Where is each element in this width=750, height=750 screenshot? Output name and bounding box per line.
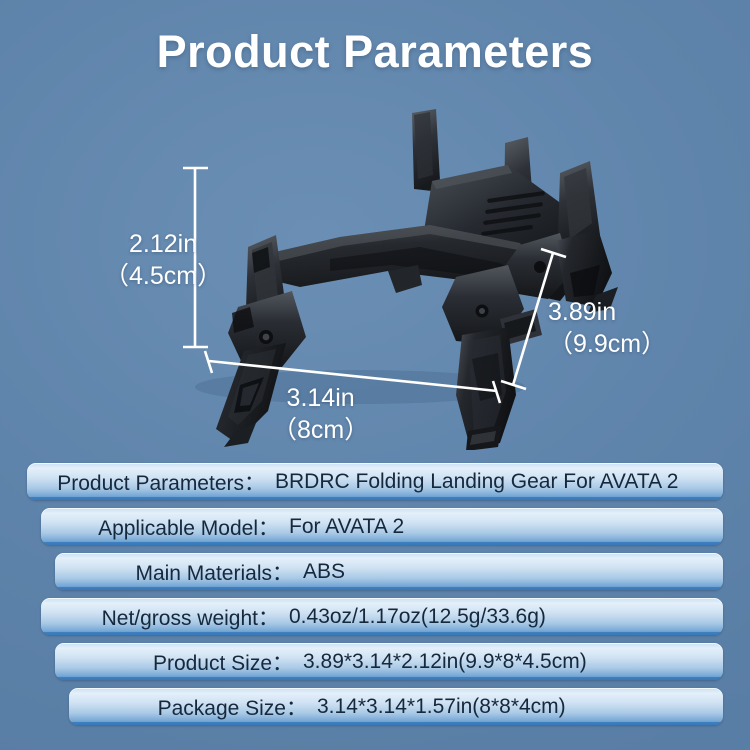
spec-label: Product Size： <box>55 647 293 677</box>
spec-row-main-materials: Main Materials： ABS <box>0 553 750 590</box>
spec-value: BRDRC Folding Landing Gear For AVATA 2 <box>275 470 678 494</box>
spec-row-net-gross-weight: Net/gross weight： 0.43oz/1.17oz(12.5g/33… <box>0 598 750 635</box>
spec-row-package-size: Package Size： 3.14*3.14*1.57in(8*8*4cm) <box>0 688 750 725</box>
spec-pill: Product Parameters： BRDRC Folding Landin… <box>27 463 723 500</box>
page-title: Product Parameters <box>0 26 750 78</box>
spec-label: Applicable Model： <box>41 512 279 542</box>
spec-pill: Package Size： 3.14*3.14*1.57in(8*8*4cm) <box>69 688 723 725</box>
spec-value: For AVATA 2 <box>289 515 404 539</box>
dimension-height-imperial: 2.12in <box>129 230 197 258</box>
spec-label: Product Parameters： <box>27 467 265 497</box>
dimension-label-width: 3.14in（8cm） <box>272 382 369 446</box>
spec-row-product-parameters: Product Parameters： BRDRC Folding Landin… <box>0 463 750 500</box>
dimension-width-imperial: 3.14in <box>287 384 355 412</box>
spec-list: Product Parameters： BRDRC Folding Landin… <box>0 463 750 733</box>
spec-pill: Product Size： 3.89*3.14*2.12in(9.9*8*4.5… <box>55 643 723 680</box>
dimension-label-depth: 3.89in（9.9cm） <box>548 296 666 360</box>
dimension-width-metric: （8cm） <box>272 416 369 444</box>
spec-value: 3.89*3.14*2.12in(9.9*8*4.5cm) <box>303 650 587 674</box>
spec-row-product-size: Product Size： 3.89*3.14*2.12in(9.9*8*4.5… <box>0 643 750 680</box>
dimension-height-metric: （4.5cm） <box>104 262 222 290</box>
dimension-depth-metric: （9.9cm） <box>548 330 666 358</box>
spec-label: Package Size： <box>69 692 307 722</box>
spec-label: Net/gross weight： <box>41 602 279 632</box>
product-parameters-page: Product Parameters <box>0 0 750 750</box>
spec-pill: Applicable Model： For AVATA 2 <box>41 508 723 545</box>
spec-row-applicable-model: Applicable Model： For AVATA 2 <box>0 508 750 545</box>
spec-pill: Net/gross weight： 0.43oz/1.17oz(12.5g/33… <box>41 598 723 635</box>
dimension-depth-imperial: 3.89in <box>548 298 616 326</box>
dimension-label-height: 2.12in（4.5cm） <box>104 228 222 292</box>
spec-label: Main Materials： <box>55 557 293 587</box>
spec-value: ABS <box>303 560 345 584</box>
spec-pill: Main Materials： ABS <box>55 553 723 590</box>
spec-value: 0.43oz/1.17oz(12.5g/33.6g) <box>289 605 546 629</box>
spec-value: 3.14*3.14*1.57in(8*8*4cm) <box>317 695 566 719</box>
